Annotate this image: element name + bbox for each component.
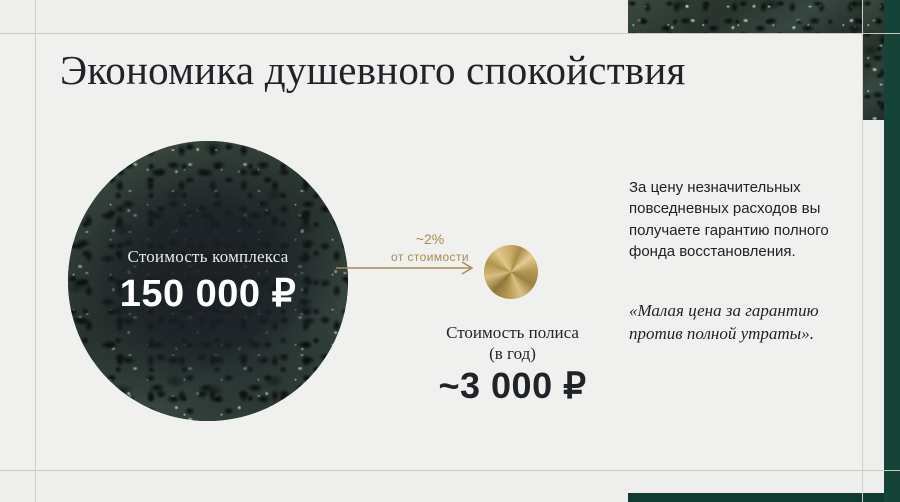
policy-gold-circle	[484, 245, 538, 299]
hairline-bottom	[0, 470, 900, 471]
hairline-left	[35, 0, 36, 502]
arrow-right-icon	[336, 258, 481, 278]
marble-top-block	[628, 0, 863, 33]
green-bar-right	[884, 0, 900, 502]
right-body-text: За цену незначительных повседневных расх…	[629, 177, 844, 262]
hairline-top	[0, 33, 900, 34]
policy-value: ~3 000 ₽	[400, 365, 625, 407]
policy-caption: Стоимость полиса (в год)	[400, 322, 625, 365]
cost-circle: Стоимость комплекса 150 000 ₽	[68, 141, 348, 421]
policy-caption-line2: (в год)	[400, 343, 625, 364]
cost-circle-labels: Стоимость комплекса 150 000 ₽	[68, 141, 348, 421]
percent-value: ~2%	[370, 230, 490, 249]
page-title: Экономика душевного спокойствия	[60, 47, 686, 94]
marble-right-strip	[863, 0, 885, 120]
policy-caption-line1: Стоимость полиса	[400, 322, 625, 343]
hairline-right	[862, 0, 863, 502]
slide-canvas: Экономика душевного спокойствия Стоимост…	[0, 0, 900, 502]
cost-circle-caption: Стоимость комплекса	[128, 247, 289, 267]
cost-circle-value: 150 000 ₽	[120, 271, 297, 316]
green-block-bottom	[628, 493, 884, 502]
right-quote-text: «Малая цена за гарантию против полной ут…	[629, 300, 844, 346]
